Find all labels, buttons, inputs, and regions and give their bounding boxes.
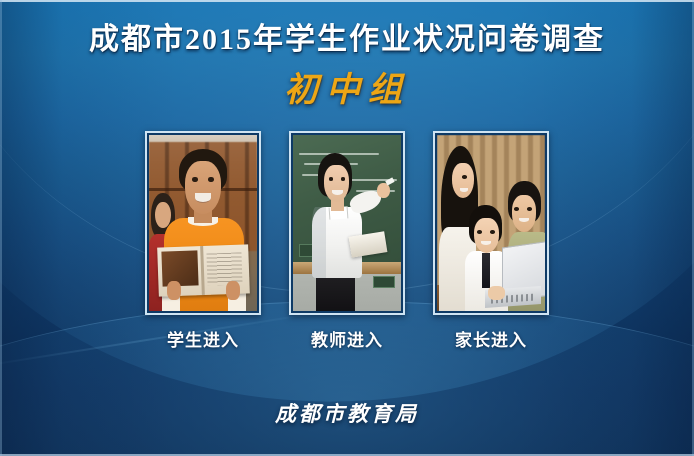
photo2-teacher-face [324, 165, 349, 202]
page-title: 成都市2015年学生作业状况问卷调查 [0, 24, 694, 56]
entry-card-teacher[interactable]: 教师进入 [289, 131, 405, 351]
entry-label-student[interactable]: 学生进入 [167, 326, 239, 351]
entry-label-teacher[interactable]: 教师进入 [311, 326, 383, 351]
footer: 成都市教育局 [0, 398, 694, 428]
photo1-hand-right [226, 281, 240, 300]
footer-organization: 成都市教育局 [275, 402, 419, 426]
photo3-child-face [474, 218, 499, 253]
photo2-eye-left [329, 177, 333, 181]
photo2-skirt [316, 274, 355, 311]
photo3-child-eye-left [477, 230, 482, 234]
photo3-father-eye-left [514, 207, 519, 211]
parent-photo-frame[interactable] [433, 131, 549, 315]
student-photo-frame[interactable] [145, 131, 261, 315]
photo3-child-tie [482, 253, 490, 288]
photo2-chalk-writing [302, 174, 319, 176]
photo2-eye-right [341, 177, 345, 181]
photo2-blouse-shadow [312, 207, 326, 277]
entry-card-student[interactable]: 学生进入 [145, 131, 261, 351]
teacher-at-chalkboard-photo [293, 135, 401, 311]
photo1-book-text [207, 252, 243, 285]
photo1-boy-face [185, 161, 222, 214]
entry-card-parent[interactable]: 家长进入 [433, 131, 549, 351]
photo1-hand-left [167, 281, 181, 300]
photo2-eraser-tray [373, 276, 394, 289]
title-block: 成都市2015年学生作业状况问卷调查 初中组 [0, 24, 694, 111]
page-subtitle: 初中组 [0, 62, 694, 111]
photo1-boy-smile [195, 193, 210, 203]
photo3-child-hand [488, 286, 505, 300]
family-at-laptop-photo [437, 135, 545, 311]
student-reading-book-photo [149, 135, 257, 311]
entry-cards: 学生进入 [0, 131, 694, 351]
entry-label-parent[interactable]: 家长进入 [455, 326, 527, 351]
photo3-mother-face [452, 163, 474, 198]
photo1-boy-eye-right [208, 177, 213, 182]
photo1-boy-eye-left [192, 177, 197, 182]
teacher-photo-frame[interactable] [289, 131, 405, 315]
photo1-book-image [161, 251, 198, 287]
photo3-father-eye-right [527, 207, 532, 211]
photo3-child-eye-right [490, 230, 495, 234]
slide-border-top [0, 0, 694, 2]
survey-title-slide: 成都市2015年学生作业状况问卷调查 初中组 [0, 0, 694, 456]
photo3-father-face [512, 195, 537, 232]
